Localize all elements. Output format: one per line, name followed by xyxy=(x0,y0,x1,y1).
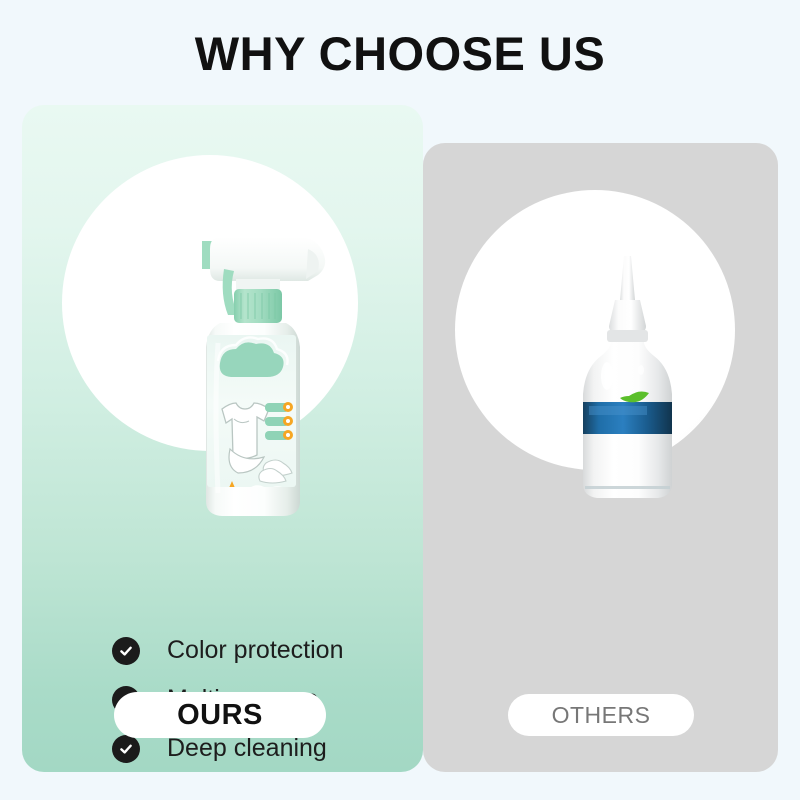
ours-label-pill: OURS xyxy=(114,692,326,738)
competitor-squeeze-bottle-image xyxy=(555,248,700,510)
others-label-pill: OTHERS xyxy=(508,694,694,736)
feature-label: Color protection xyxy=(167,638,343,663)
check-icon xyxy=(112,735,140,763)
feature-label: Deep cleaning xyxy=(167,736,327,761)
others-panel: Easy to fade Single effect Surfaces are … xyxy=(423,143,778,772)
others-pill-label: OTHERS xyxy=(552,702,651,729)
comparison-infographic: WHY CHOOSE US xyxy=(0,0,800,800)
ours-pill-label: OURS xyxy=(177,699,263,732)
page-title: WHY CHOOSE US xyxy=(0,26,800,81)
ours-product-circle xyxy=(62,155,358,451)
spray-bottle-product-image xyxy=(158,223,348,523)
others-product-circle xyxy=(455,190,735,470)
ours-panel: Color protection Multi-purpose Deep clea… xyxy=(22,105,423,772)
check-icon xyxy=(112,637,140,665)
list-item: Color protection xyxy=(112,627,432,674)
